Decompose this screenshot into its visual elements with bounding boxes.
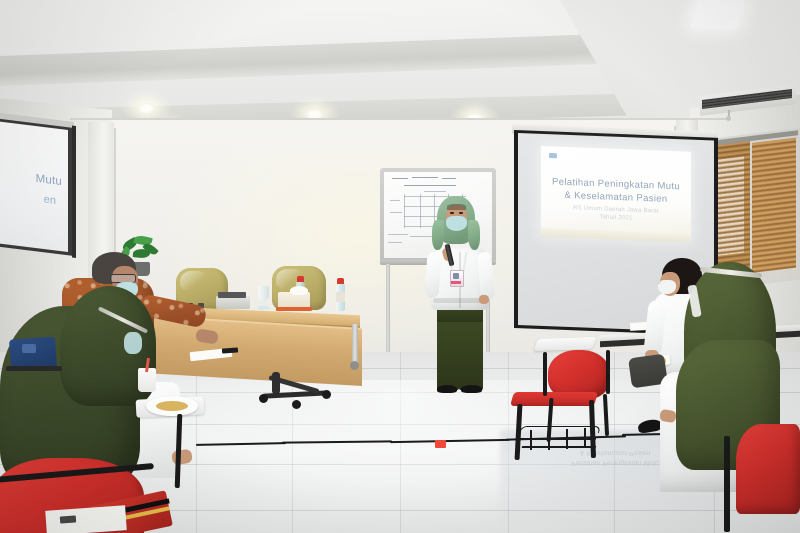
whiteboard-leg [386, 264, 390, 356]
chair-edge [6, 366, 62, 371]
red-chair-back-post [543, 352, 547, 396]
badge-name-strip [451, 281, 461, 284]
whiteboard-grid-line [404, 194, 405, 228]
presenter-face-mask [446, 216, 467, 231]
chair-basket-rail [548, 430, 550, 450]
chair-gas-lift [272, 372, 280, 394]
tissue-sheet [290, 286, 308, 295]
projector-device-top [218, 292, 246, 298]
red-chair-seat[interactable] [510, 392, 598, 406]
window-blind-daylight [716, 157, 744, 256]
presenter-eye-left [450, 212, 454, 214]
left-screen-edge [72, 126, 76, 258]
photo-scene: Mutu en Pelatihan Peningkatan Mutu & Kes… [0, 0, 800, 533]
presenter-hairline [447, 204, 466, 210]
presenter-hand-in-pocket [479, 295, 489, 304]
whiteboard-handwriting [388, 234, 408, 235]
water-bottle-label [336, 292, 345, 302]
badge-photo [453, 273, 459, 279]
table-caster [350, 361, 359, 370]
whiteboard-handwriting [404, 185, 456, 186]
glass-base [257, 306, 270, 310]
presenter-hijab-drape-right [468, 220, 480, 250]
water-bottle-cap [337, 278, 344, 284]
slide-logo-icon [549, 153, 557, 158]
whiteboard-handwriting [424, 191, 446, 192]
drinking-glass[interactable] [258, 286, 269, 301]
notebook-label [60, 515, 76, 523]
blue-bag-pocket [22, 344, 36, 353]
whiteboard-handwriting [392, 178, 408, 179]
presenter-shoe-left [437, 385, 457, 393]
chair-writing-tablet[interactable] [533, 337, 596, 351]
snack-food [156, 401, 188, 411]
whiteboard-handwriting [390, 200, 400, 201]
cable-floor-marker [435, 440, 446, 448]
whiteboard-grid-line [420, 194, 421, 228]
whiteboard-handwriting [390, 212, 402, 213]
whiteboard-handwriting [442, 178, 456, 179]
red-chair-backrest-right[interactable] [736, 424, 800, 514]
table-leg [352, 324, 358, 364]
red-chair-back-post [606, 350, 610, 394]
ceiling-skylight [690, 0, 746, 29]
window-blind-right[interactable] [752, 138, 796, 273]
chair-basket-rail [530, 430, 532, 450]
whiteboard-handwriting [412, 177, 438, 178]
downlight-icon [138, 103, 155, 114]
olive-chair-highlight [180, 271, 210, 291]
tissue-box-tray [276, 307, 312, 311]
presenter-eye-right [459, 212, 463, 214]
chair-caster [322, 390, 331, 399]
red-chair-post-right [724, 436, 730, 532]
presenter-shoe-right [461, 385, 482, 393]
chair-caster [292, 400, 301, 409]
presenter-hijab-drape-left [432, 220, 444, 250]
sprinkler-head-icon [726, 116, 731, 121]
chair-caster [259, 394, 268, 403]
foreground-notebook[interactable] [45, 505, 127, 533]
wall-ceiling-line [70, 118, 730, 120]
whiteboard-handwriting [388, 242, 402, 243]
participant-front-left-mask [124, 332, 142, 354]
water-bottle-cap [297, 276, 304, 282]
chair-basket-hoop [519, 426, 601, 433]
